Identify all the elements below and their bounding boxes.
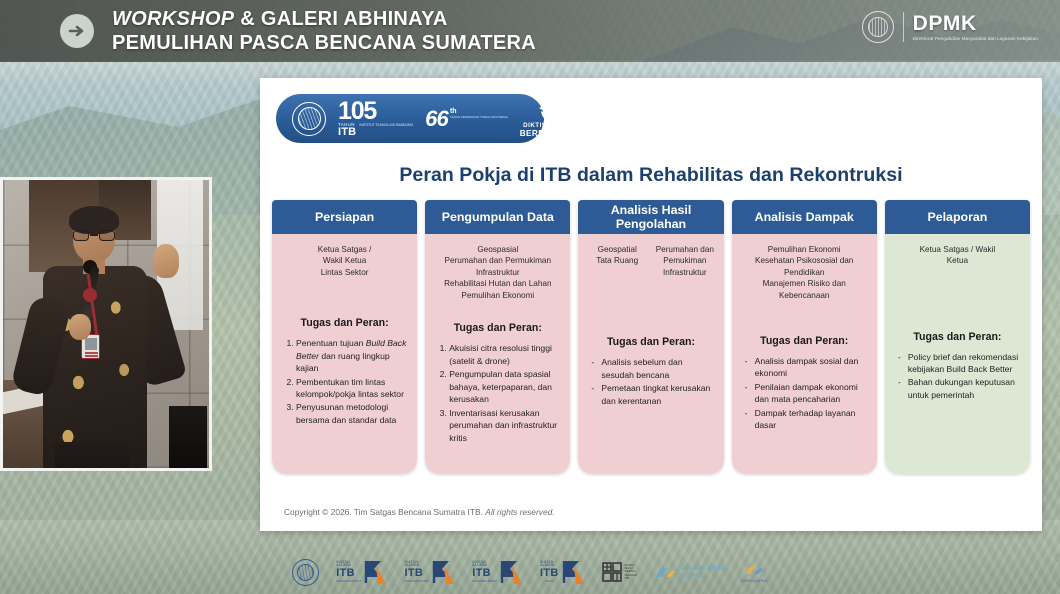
pokja-task-list: Analisis dampak sosial dan ekonomiPenila… (741, 355, 868, 433)
pokja-card: Analisis Hasil PengolahanGeospatialTata … (578, 200, 723, 474)
pokja-card: Pengumpulan DataGeospasialPerumahan dan … (425, 200, 570, 474)
pokja-card-header: Analisis Hasil Pengolahan (578, 200, 723, 234)
diktisaintek-line1: DIKTISAINTEK (523, 122, 572, 129)
slide-logo-pill: 105 TAHUN ITB INSTITUT TEKNOLOGI BANDUNG… (276, 94, 544, 143)
pokja-task-list: Analisis sebelum dan sesudah bencanaPeme… (587, 356, 714, 408)
spacer (434, 445, 561, 466)
spacer (894, 343, 1021, 351)
spacer (281, 278, 408, 317)
pokja-subheading-line: Ketua Satgas / (281, 244, 408, 255)
pokja-card-subheading: Ketua Satgas / WakilKetua (894, 244, 1021, 267)
sixty-six-caption: TAHUN PENDIDIKAN TINGGI INDONESIA (450, 116, 508, 119)
speaker-raised-hand (153, 244, 179, 278)
pokja-task-item: Pemetaan tingkat kerusakan dan kerentana… (591, 382, 714, 407)
spacer (434, 301, 561, 322)
pokja-task-list: Policy brief dan rekomendasi kebijakan B… (894, 351, 1021, 403)
pokja-card-subheading: Pemulihan EkonomiKesehatan Psikososial d… (741, 244, 868, 301)
pokja-card: PersiapanKetua Satgas /Wakil KetuaLintas… (272, 200, 417, 474)
pokja-subheading-line: Manajemen Risiko dan Kebencanaan (741, 278, 868, 301)
pokja-task-item: Analisis sebelum dan sesudah bencana (591, 356, 714, 381)
pokja-subheading-line: Tata Ruang (587, 255, 647, 266)
spacer (281, 427, 408, 466)
pokja-card-header: Persiapan (272, 200, 417, 234)
itb-105-anniversary-logo: 105 TAHUN ITB INSTITUT TEKNOLOGI BANDUNG (338, 100, 413, 138)
presentation-slide[interactable]: 105 TAHUN ITB INSTITUT TEKNOLOGI BANDUNG… (260, 78, 1042, 531)
pokja-subheading-line: Pemukiman (655, 255, 715, 266)
spacer (587, 348, 714, 356)
tugas-dan-peran-label: Tugas dan Peran: (434, 322, 561, 334)
pokja-task-item: Pembentukan tim lintas kelompok/pokja li… (296, 376, 408, 401)
diktisaintek-line2: BERDAMPAK (520, 129, 576, 138)
spacer (281, 329, 408, 337)
ia-flag-icon (562, 560, 585, 584)
sahabat-line2: salman (679, 572, 723, 579)
pokja-card-subheading: Ketua Satgas /Wakil KetuaLintas Sektor (281, 244, 408, 278)
pokja-subheading-line: Wakil Ketua (281, 255, 408, 266)
sahabat-amal-salman-logo: sahabat amal salman (654, 563, 723, 581)
pokja-subheading-line: Perumahan dan Permukiman (434, 255, 561, 266)
pokja-role-cards: PersiapanKetua Satgas /Wakil KetuaLintas… (272, 200, 1030, 474)
66th-anniversary-logo: 66 th TAHUN PENDIDIKAN TINGGI INDONESIA (425, 108, 508, 130)
sponsor-logo-strip: IKATANALUMNIITBPENGURUS PUSATIKATANALUMN… (0, 550, 1060, 594)
sahabat-bird-icon (654, 563, 676, 581)
berdampak-bird-icon (743, 561, 765, 578)
pokja-card: PelaporanKetua Satgas / WakilKetuaTugas … (885, 200, 1030, 474)
ia-itb-label: ITB (404, 568, 429, 579)
spacer (894, 402, 1021, 466)
tugas-dan-peran-label: Tugas dan Peran: (587, 336, 714, 348)
diktisaintek-berdampak-logo: DIKTISAINTEK BERDAMPAK (520, 99, 576, 138)
logo-divider (903, 12, 904, 42)
slide-copyright: Copyright © 2026. Tim Satgas Bencana Sum… (284, 507, 555, 517)
ikatan-alumni-itb-logo: IKATANALUMNIITBSUMATERA BARAT (472, 560, 523, 584)
pokja-task-item: Penentuan tujuan Build Back Better dan r… (296, 337, 408, 374)
pokja-task-item: Penilaian dampak ekonomi dan mata pencah… (745, 381, 868, 406)
speaker-trousers (55, 442, 129, 471)
pokja-card-header: Pengumpulan Data (425, 200, 570, 234)
event-header-bar: WORKSHOP & GALERI ABHINAYA PEMULIHAN PAS… (0, 0, 1060, 62)
pokja-card-body: GeospasialPerumahan dan PermukimanInfras… (425, 234, 570, 474)
ia-sub-label: PENGURUS PUSAT (336, 580, 361, 584)
tugas-dan-peran-label: Tugas dan Peran: (741, 335, 868, 347)
pokja-subheading-line: Infrastruktur (655, 267, 715, 278)
sixty-six-number: 66 (425, 108, 448, 130)
ikatan-alumni-itb-logo: IKATANALUMNIITBSUMATERA UTARA (404, 560, 455, 584)
speaker-glasses (73, 230, 115, 241)
pokja-card-body: Ketua Satgas /Wakil KetuaLintas SektorTu… (272, 234, 417, 474)
berdampak-label: BERDAMPAK (740, 578, 768, 583)
header-title-galeri: & GALERI ABHINAYA (234, 8, 447, 30)
pokja-card-header: Pelaporan (885, 200, 1030, 234)
dpmk-subtitle: Direktorat Pengabdian Masyarakat dan Lay… (913, 37, 1038, 42)
kkm-glyph-icon (602, 562, 622, 582)
header-title-line2: PEMULIHAN PASCA BENCANA SUMATERA (112, 32, 536, 56)
pokja-task-item: Akuisisi citra resolusi tinggi (satelit … (449, 342, 561, 367)
kkm-salman-logo: KARYAMASADEPANSALMANITB (602, 562, 637, 582)
anniversary-itb-label: ITB (338, 127, 356, 138)
itb-seal-icon (292, 102, 326, 136)
screen: WORKSHOP & GALERI ABHINAYA PEMULIHAN PAS… (0, 0, 1060, 594)
diktisaintek-berdampak-icon (535, 99, 561, 121)
ia-text-block: IKATANALUMNIITBSUMATERA BARAT (472, 561, 497, 584)
pokja-task-list: Penentuan tujuan Build Back Better dan r… (281, 337, 408, 427)
pokja-card: Analisis DampakPemulihan EkonomiKesehata… (732, 200, 877, 474)
speaker-video-feed[interactable] (0, 177, 212, 471)
ia-flag-icon (364, 560, 387, 584)
pokja-task-list: Akuisisi citra resolusi tinggi (satelit … (434, 342, 561, 445)
ia-sub-label: SUMATERA BARAT (472, 580, 497, 584)
sahabat-line1: sahabat amal (679, 565, 723, 572)
pokja-task-item: Penyusunan metodologi bersama dan standa… (296, 401, 408, 426)
pokja-subheading-line: Pemulihan Ekonomi (434, 290, 561, 301)
pokja-subheading-line: Lintas Sektor (281, 267, 408, 278)
itb-seal-icon (292, 559, 319, 586)
kkm-text-lines: KARYAMASADEPANSALMANITB (625, 564, 637, 580)
pokja-subheading-line: Geospasial (434, 244, 561, 255)
ia-itb-label: ITB (336, 568, 361, 579)
ia-sub-label: SUMATERA UTARA (404, 580, 429, 584)
kkm-text-line: ITB (625, 577, 637, 580)
pokja-card-body: Pemulihan EkonomiKesehatan Psikososial d… (732, 234, 877, 474)
spacer (741, 301, 868, 334)
spacer (587, 278, 714, 336)
header-title-block: WORKSHOP & GALERI ABHINAYA PEMULIHAN PAS… (112, 8, 536, 55)
ia-itb-label: ITB (540, 568, 559, 579)
header-title-workshop: WORKSHOP (112, 8, 234, 30)
spacer (434, 334, 561, 342)
pokja-task-item: Inventarisasi kerusakan perumahan dan in… (449, 407, 561, 444)
pokja-task-item: Policy brief dan rekomendasi kebijakan B… (898, 351, 1021, 376)
ia-flag-icon (432, 560, 455, 584)
tugas-dan-peran-label: Tugas dan Peran: (894, 331, 1021, 343)
copyright-suffix: All rights reserved. (485, 507, 554, 517)
pokja-card-header: Analisis Dampak (732, 200, 877, 234)
copyright-prefix: Copyright © 2026. Tim Satgas Bencana Sum… (284, 507, 485, 517)
ia-logo-group: IKATANALUMNIITBPENGURUS PUSATIKATANALUMN… (336, 560, 584, 584)
pokja-card-body: GeospatialTata RuangPerumahan danPemukim… (578, 234, 723, 474)
itb-seal-icon (862, 11, 894, 43)
sixty-six-superscript: th (450, 108, 508, 115)
pokja-card-subheading: GeospatialTata RuangPerumahan danPemukim… (587, 244, 714, 278)
pokja-subheading-line: Pemulihan Ekonomi (741, 244, 868, 255)
pokja-subheading-column: GeospatialTata Ruang (587, 244, 647, 278)
arrow-right-circle-icon (60, 14, 94, 48)
header-title-line1: WORKSHOP & GALERI ABHINAYA (112, 8, 536, 32)
pokja-subheading-line: Ketua Satgas / Wakil (894, 244, 1021, 255)
ia-text-block: IKATANALUMNIITBACEH (540, 561, 559, 584)
pokja-task-item: Bahan dukungan keputusan untuk pemerinta… (898, 376, 1021, 401)
pokja-subheading-column: Perumahan danPemukimanInfrastruktur (655, 244, 715, 278)
spacer (894, 267, 1021, 331)
pokja-subheading-line: Geospatial (587, 244, 647, 255)
ia-sub-label: ACEH (540, 580, 559, 584)
spacer (587, 408, 714, 466)
slide-title: Peran Pokja di ITB dalam Rehabilitas dan… (260, 164, 1042, 187)
berdampak-logo: BERDAMPAK (740, 561, 768, 583)
speaker-mic-hand (69, 314, 91, 340)
pokja-subheading-line: Kesehatan Psikososial dan Pendidikan (741, 255, 868, 278)
dpmk-name: DPMK (913, 13, 1038, 35)
ikatan-alumni-itb-logo: IKATANALUMNIITBACEH (540, 560, 585, 584)
pokja-task-item: Analisis dampak sosial dan ekonomi (745, 355, 868, 380)
dpmk-logo-lockup: DPMK Direktorat Pengabdian Masyarakat da… (862, 11, 1038, 43)
anniversary-number: 105 (338, 100, 376, 122)
pokja-subheading-line: Perumahan dan (655, 244, 715, 255)
anniversary-university-label: INSTITUT TEKNOLOGI BANDUNG (359, 124, 413, 127)
ia-text-block: IKATANALUMNIITBSUMATERA UTARA (404, 561, 429, 584)
ia-flag-icon (500, 560, 523, 584)
sahabat-text-block: sahabat amal salman (679, 565, 723, 580)
pokja-subheading-line: Rehabilitasi Hutan dan Lahan (434, 278, 561, 289)
spacer (741, 433, 868, 466)
ia-itb-label: ITB (472, 568, 497, 579)
pokja-card-subheading: GeospasialPerumahan dan PermukimanInfras… (434, 244, 561, 301)
ia-text-block: IKATANALUMNIITBPENGURUS PUSAT (336, 561, 361, 584)
pokja-task-item: Dampak terhadap layanan dasar (745, 407, 868, 432)
dpmk-text-block: DPMK Direktorat Pengabdian Masyarakat da… (913, 13, 1038, 42)
spacer (741, 347, 868, 355)
pokja-subheading-line: Ketua (894, 255, 1021, 266)
pokja-task-item: Pengumpulan data spasial bahaya, keterpa… (449, 368, 561, 405)
pokja-card-body: Ketua Satgas / WakilKetuaTugas dan Peran… (885, 234, 1030, 474)
speaker-person (25, 202, 197, 471)
tugas-dan-peran-label: Tugas dan Peran: (281, 317, 408, 329)
ikatan-alumni-itb-logo: IKATANALUMNIITBPENGURUS PUSAT (336, 560, 387, 584)
pokja-subheading-line: Infrastruktur (434, 267, 561, 278)
